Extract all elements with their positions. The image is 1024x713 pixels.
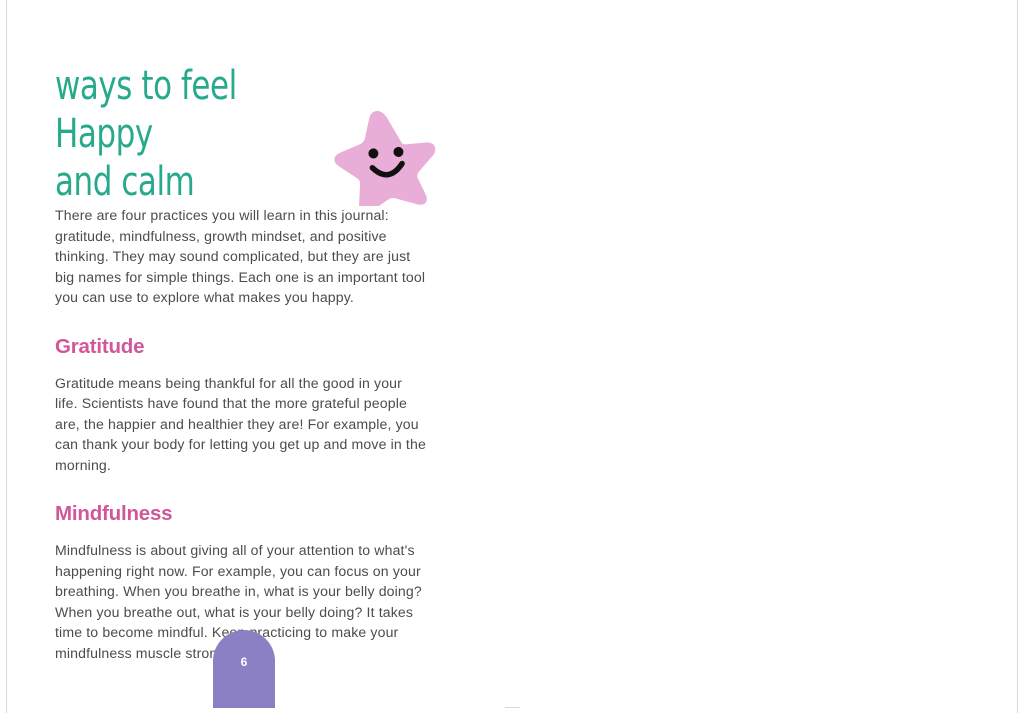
smiling-star-icon <box>332 108 437 206</box>
section-heading-mindfulness: Mindfulness <box>55 501 427 527</box>
section-heading-gratitude: Gratitude <box>55 334 427 360</box>
left-page: ways to feel Happy and calm There are fo… <box>7 0 505 713</box>
right-page: Growth Mindset Having a growth mindset m… <box>520 0 1017 713</box>
page-number-left: 6 <box>213 656 275 668</box>
book-spread: ways to feel Happy and calm There are fo… <box>0 0 1024 713</box>
page-title: ways to feel Happy and calm <box>55 62 339 206</box>
section-body-gratitude: Gratitude means being thankful for all t… <box>55 373 427 476</box>
left-page-content: There are four practices you will learn … <box>55 205 427 663</box>
page-edge-right <box>1017 0 1018 713</box>
page-number-tab-left: 6 <box>213 630 275 708</box>
intro-paragraph: There are four practices you will learn … <box>55 205 427 308</box>
